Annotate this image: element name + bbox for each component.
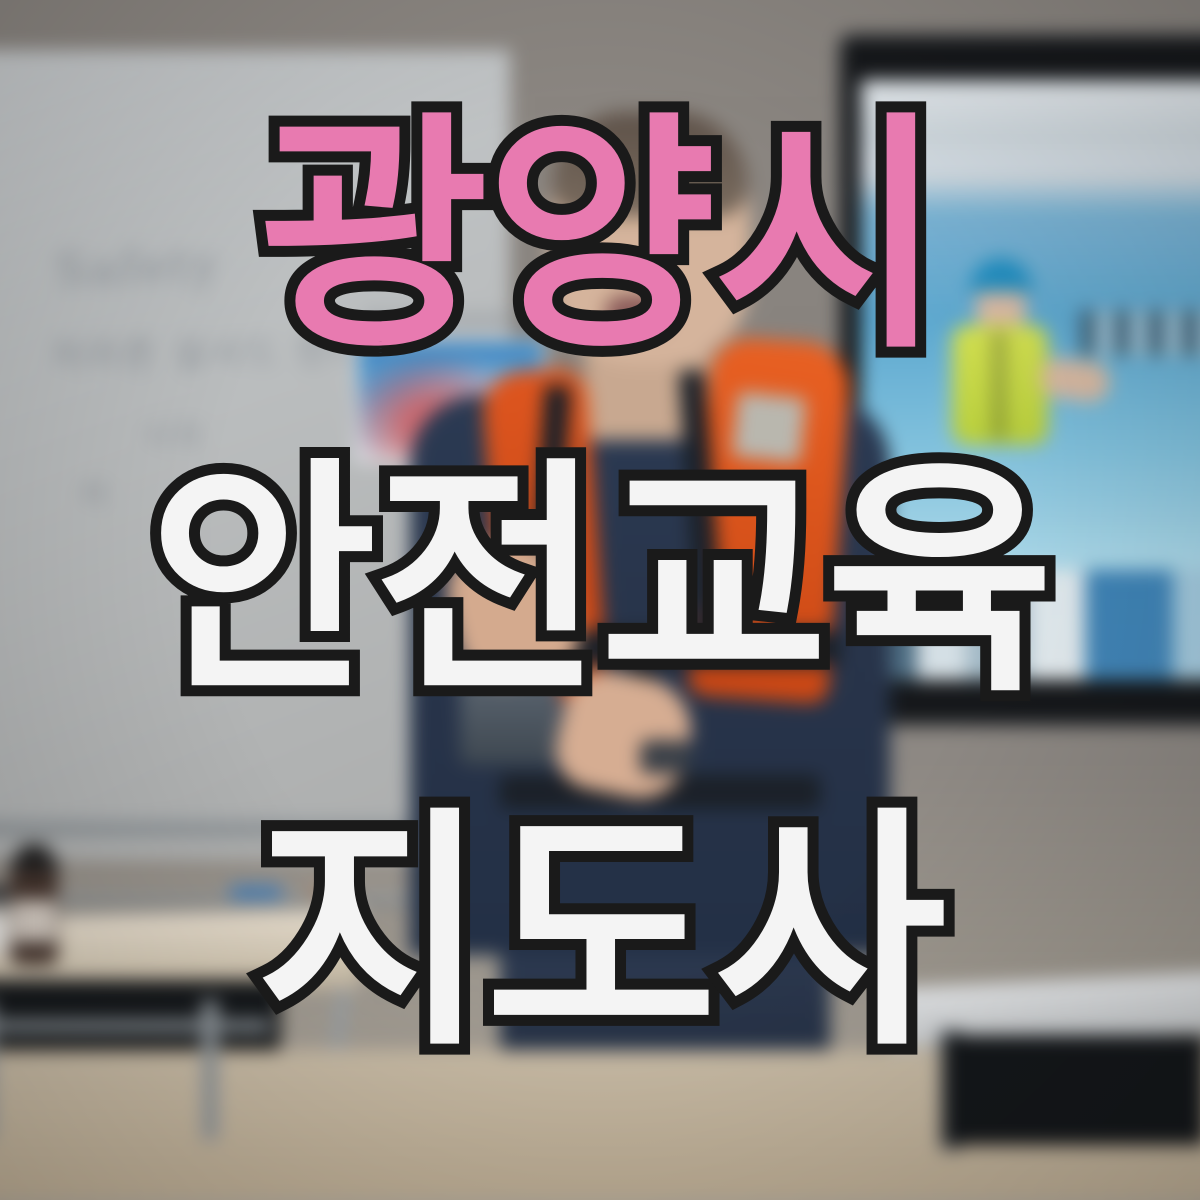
headline-line-2: 안전교육 [0,458,1200,706]
headline-line-1: 광양시 [0,112,1200,362]
headline-block: 광양시 안전교육 지도사 [0,0,1200,1200]
poster-canvas: Safety 저라른 설사드 한나 나오 아 [0,0,1200,1200]
headline-line-3: 지도사 [0,808,1200,1060]
